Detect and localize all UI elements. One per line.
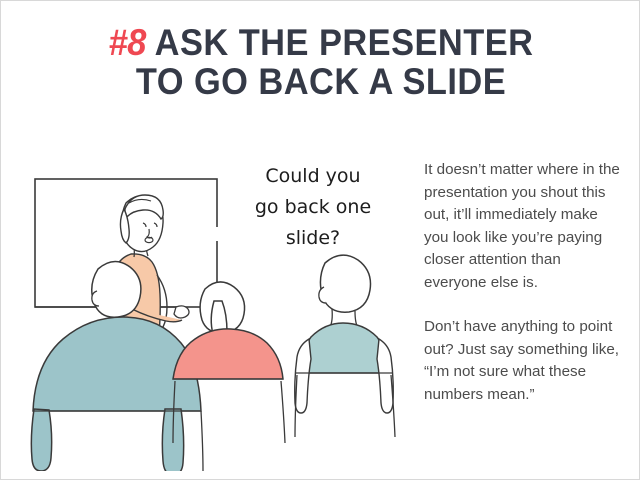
title-line-1-text: ASK THE PRESENTER (146, 22, 534, 63)
slide-canvas: #8 ASK THE PRESENTER TO GO BACK A SLIDE (0, 0, 640, 480)
speech-line-2: go back one (223, 192, 403, 223)
speech-line-3: slide? (223, 223, 403, 254)
title-line-1: #8 ASK THE PRESENTER (23, 23, 618, 62)
body-paragraph-2: Don’t have anything to point out? Just s… (424, 316, 624, 406)
speech-line-1: Could you (223, 161, 403, 192)
audience-member-right (295, 255, 395, 437)
title-number: #8 (109, 22, 146, 63)
body-paragraph-1: It doesn’t matter where in the presentat… (424, 159, 624, 294)
body-text-column: It doesn’t matter where in the presentat… (424, 159, 624, 428)
speech-text: Could you go back one slide? (223, 161, 403, 254)
title-line-2: TO GO BACK A SLIDE (23, 62, 618, 101)
page-title: #8 ASK THE PRESENTER TO GO BACK A SLIDE (1, 23, 640, 101)
